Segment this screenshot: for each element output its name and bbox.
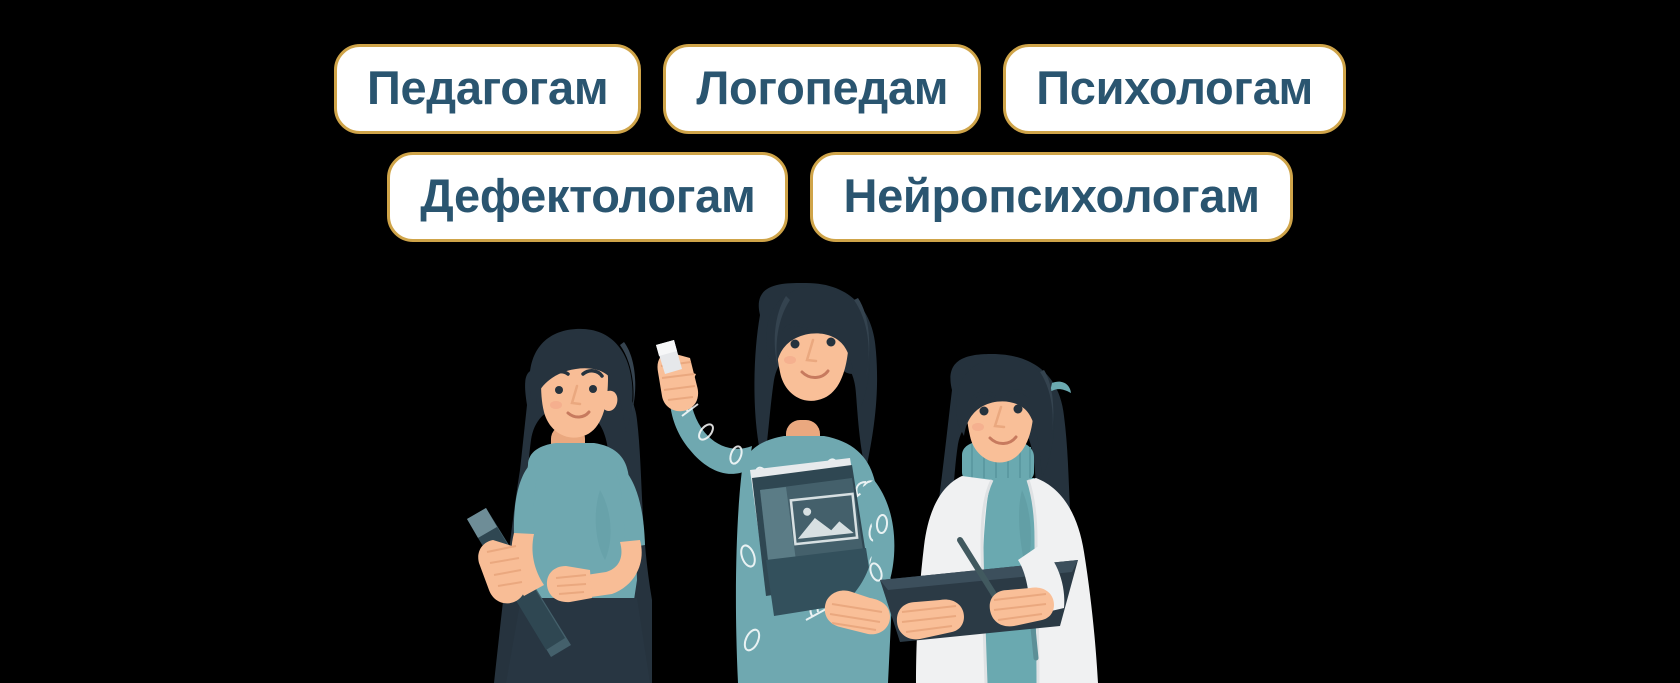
center-hand-lines — [661, 362, 695, 400]
left-hand-left-lines — [487, 546, 522, 586]
center-chalk — [656, 340, 682, 374]
left-shirt — [521, 443, 637, 600]
badge-defektologam[interactable]: Дефектологам — [387, 152, 788, 242]
right-clipboard-edge — [880, 560, 1078, 590]
right-clipboard — [880, 560, 1078, 642]
center-eyebrow-b — [820, 323, 841, 328]
center-books — [750, 458, 874, 616]
left-cheek — [550, 401, 562, 409]
right-turtleneck-collar — [962, 441, 1034, 484]
right-coat-right-lapel — [1028, 480, 1038, 683]
center-raised-sleeve — [670, 396, 752, 474]
center-blouse-pattern — [739, 458, 886, 653]
left-tablet-body — [467, 508, 571, 657]
book-front-cover — [760, 478, 868, 598]
left-hand-right-lines — [556, 575, 586, 594]
badge-neyropsihologam[interactable]: Нейропсихологам — [810, 152, 1292, 242]
left-nose — [572, 386, 580, 404]
book-spine — [760, 487, 800, 594]
right-neck — [975, 440, 1007, 472]
center-raised-hand — [657, 352, 698, 411]
right-hair-back — [930, 354, 1078, 600]
book-second — [766, 548, 874, 616]
center-sleeve-pattern — [682, 401, 744, 465]
center-eye-b — [827, 338, 836, 347]
left-skirt — [506, 598, 650, 683]
left-shirt-shade — [596, 490, 611, 560]
left-hand-left — [478, 540, 525, 603]
figure-center-speech-therapist — [656, 283, 894, 683]
right-clipboard-body — [880, 560, 1078, 642]
right-coat-sleeve — [1018, 545, 1064, 616]
left-neck — [551, 425, 585, 465]
center-hair-bun — [836, 340, 870, 374]
center-neck — [786, 420, 820, 462]
badge-row-2: Дефектологам Нейропсихологам — [0, 152, 1680, 242]
left-hair-back — [494, 369, 652, 683]
right-collar-ribs — [972, 441, 1030, 484]
left-tablet-screen — [478, 527, 565, 650]
center-hair-highlight-b — [775, 296, 790, 368]
badge-logopedam[interactable]: Логопедам — [663, 44, 981, 134]
figure-left-teacher — [467, 329, 652, 683]
left-hand-right — [547, 566, 592, 602]
left-mouth — [568, 412, 589, 417]
center-hair-tie — [836, 343, 860, 355]
right-cheek — [972, 423, 984, 431]
center-right-sleeve — [852, 480, 894, 612]
center-hair-back — [754, 283, 877, 470]
left-sleeve-b — [616, 470, 645, 548]
right-coat-pen — [1032, 618, 1036, 658]
right-nose — [995, 407, 1004, 427]
right-mouth — [990, 437, 1016, 444]
book-back-cover — [752, 465, 870, 596]
left-arm-left — [511, 533, 544, 596]
center-mouth — [802, 371, 828, 378]
figure-right-psychologist — [880, 354, 1098, 683]
center-nose — [807, 340, 816, 361]
right-hair-tie — [1050, 382, 1071, 393]
right-turtleneck-shade — [1019, 490, 1031, 570]
center-chalk-tip — [656, 340, 677, 356]
left-eyebrow-b — [583, 371, 602, 376]
center-raised-forearm — [669, 368, 696, 404]
left-arm-right — [566, 540, 642, 600]
left-ear — [604, 391, 617, 411]
right-coat-right — [1028, 478, 1098, 683]
left-hair-front — [530, 329, 633, 432]
badge-psihologam[interactable]: Психологам — [1003, 44, 1346, 134]
center-right-hand — [825, 590, 890, 634]
right-eye-b — [1014, 405, 1023, 414]
right-writing-hand — [990, 587, 1054, 626]
right-eye-a — [980, 407, 989, 416]
right-holding-hand-lines — [902, 606, 956, 632]
badge-row-1: Педагогам Логопедам Психологам — [0, 44, 1680, 134]
page-root: Педагогам Логопедам Психологам Дефектоло… — [0, 0, 1680, 683]
center-hair-front — [766, 286, 870, 414]
right-coat-left-lapel — [982, 480, 992, 683]
center-eyebrow-a — [784, 325, 806, 330]
left-tablet-top — [467, 508, 497, 538]
book-pages — [750, 458, 866, 572]
center-blouse — [736, 436, 892, 683]
left-eyebrow-a — [549, 372, 568, 377]
right-writing-hand-lines — [994, 594, 1046, 620]
center-cheek — [784, 356, 796, 364]
right-holding-hand — [897, 599, 964, 639]
right-hair-front — [956, 358, 1054, 478]
book-picture-frame — [791, 494, 857, 544]
left-hair-highlight — [620, 342, 635, 412]
center-right-sleeve-pattern — [868, 515, 888, 583]
right-eyebrow-b — [1008, 391, 1028, 396]
audience-badge-group: Педагогам Логопедам Психологам Дефектоло… — [0, 44, 1680, 242]
left-face — [541, 343, 608, 438]
right-turtleneck-body — [954, 478, 1056, 683]
right-face — [966, 363, 1034, 463]
center-hair-highlight-a — [854, 298, 869, 378]
right-hair-highlight — [1040, 370, 1053, 444]
center-right-hand-lines — [830, 604, 882, 630]
right-coat-left — [916, 476, 992, 683]
right-eyebrow-a — [973, 393, 994, 398]
badge-pedagogam[interactable]: Педагогам — [334, 44, 641, 134]
left-sleeve-a — [514, 467, 540, 535]
book-picture-glyph — [795, 503, 854, 539]
center-face — [776, 292, 849, 401]
left-eye-a — [555, 386, 563, 394]
center-eye-a — [791, 340, 800, 349]
right-writing-pen — [960, 540, 1000, 604]
left-tablet — [467, 508, 571, 657]
left-eye-b — [589, 385, 597, 393]
